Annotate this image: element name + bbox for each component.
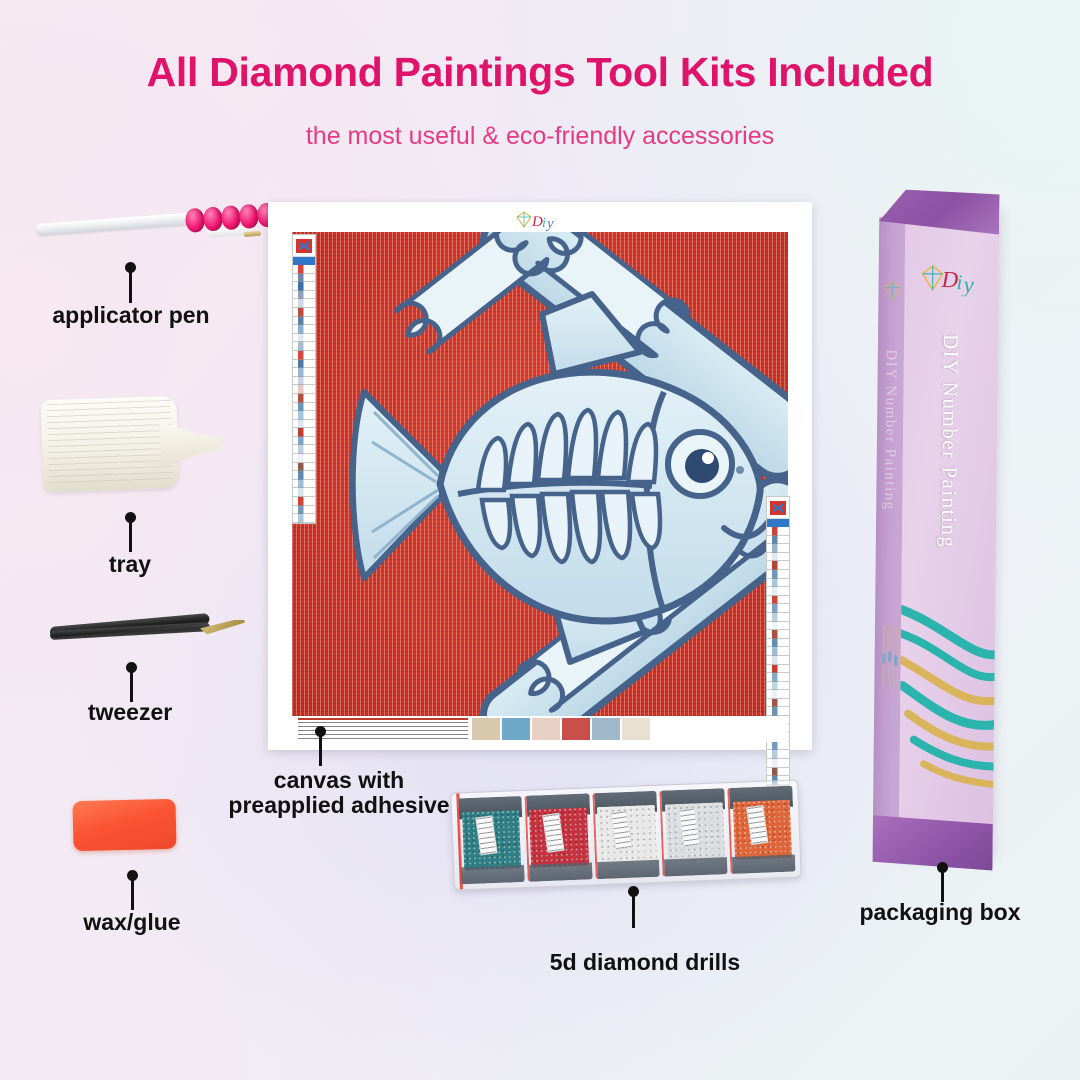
legend-swatch-row	[293, 394, 315, 403]
drill-bag-shadow-bottom	[664, 857, 727, 877]
legend-swatch-row	[293, 454, 315, 463]
drill-bag-shadow-bottom	[732, 854, 795, 874]
legend-swatch-row	[767, 768, 789, 777]
legend-swatch-row	[767, 587, 789, 596]
instruction-thumbnails	[472, 718, 650, 740]
legend-swatch-row	[293, 377, 315, 386]
legend-swatch-row	[767, 561, 789, 570]
legend-swatch-row	[293, 411, 315, 420]
legend-swatch-row	[293, 385, 315, 394]
legend-swatch-row	[293, 334, 315, 343]
legend-swatch-row	[293, 342, 315, 351]
paint-brushes-icon	[879, 613, 900, 703]
legend-swatch-row	[293, 282, 315, 291]
canvas-artwork	[292, 232, 788, 724]
drill-zip-bag	[727, 786, 795, 874]
label-applicator-pen: applicator pen	[0, 303, 262, 328]
callout-stem	[131, 878, 134, 910]
instruction-thumbnail	[562, 718, 590, 740]
legend-swatch-row	[293, 291, 315, 300]
applicator-pen-image	[30, 210, 262, 250]
instruction-thumbnail	[472, 718, 500, 740]
legend-swatch-row	[767, 596, 789, 605]
legend-swatch-row	[767, 707, 789, 716]
diy-logo-icon	[880, 277, 904, 307]
callout-stem	[941, 870, 944, 902]
drill-outer-bag	[450, 779, 802, 890]
diy-logo-icon: D i y	[918, 262, 984, 297]
legend-swatch-row	[767, 665, 789, 674]
legend-swatch-row	[767, 604, 789, 613]
drill-zip-bag	[456, 796, 524, 884]
legend-swatch-row	[767, 613, 789, 622]
box-front-text: DIY Number Painting	[936, 334, 963, 549]
legend-swatch-row	[293, 428, 315, 437]
x-logo-icon	[293, 235, 315, 257]
ribbon-decoration	[899, 588, 995, 799]
legend-swatch-row	[293, 403, 315, 412]
legend-swatch-row	[293, 480, 315, 489]
pen-grip-rings	[35, 203, 270, 244]
legend-swatch-row	[767, 759, 789, 768]
legend-swatch-rows-left	[293, 265, 315, 523]
legend-swatch-row	[293, 506, 315, 515]
instruction-thumbnail	[532, 718, 560, 740]
legend-swatch-row	[293, 420, 315, 429]
legend-swatch-rows-right	[767, 527, 789, 785]
instruction-thumbnail	[622, 718, 650, 740]
tray-body	[40, 396, 179, 493]
drill-zip-bag	[592, 791, 660, 879]
infographic-canvas: All Diamond Paintings Tool Kits Included…	[0, 0, 1080, 1080]
legend-header-bar	[767, 519, 789, 527]
instruction-thumbnail	[592, 718, 620, 740]
legend-swatch-row	[767, 536, 789, 545]
wax-glue-image	[72, 799, 176, 852]
instruction-strip	[292, 716, 788, 742]
legend-swatch-row	[767, 544, 789, 553]
color-legend-right	[766, 496, 790, 786]
color-legend-left	[292, 234, 316, 524]
legend-swatch-row	[767, 750, 789, 759]
x-logo-icon	[767, 497, 789, 519]
legend-swatch-row	[293, 325, 315, 334]
svg-text:i: i	[542, 216, 546, 231]
svg-text:y: y	[961, 272, 974, 296]
diy-logo-icon: D i y	[513, 209, 567, 233]
callout-stem	[632, 894, 635, 928]
tray-spout	[159, 419, 223, 469]
drill-bag-shadow-bottom	[529, 862, 592, 882]
legend-swatch-row	[767, 622, 789, 631]
page-title: All Diamond Paintings Tool Kits Included	[0, 52, 1080, 93]
box-front-panel: D i y DIY Number Painting	[899, 206, 1000, 855]
legend-swatch-row	[293, 463, 315, 472]
legend-swatch-row	[293, 514, 315, 523]
label-packaging-box: packaging box	[818, 900, 1062, 925]
legend-swatch-row	[767, 639, 789, 648]
x-ray-fish-artwork	[292, 232, 788, 724]
legend-swatch-row	[293, 488, 315, 497]
label-wax-glue: wax/glue	[12, 910, 252, 935]
legend-swatch-row	[293, 360, 315, 369]
box-side-text: DIY Number Painting	[880, 349, 899, 510]
canvas-product-image: D i y	[268, 202, 812, 750]
callout-stem	[129, 270, 132, 303]
label-tweezer: tweezer	[10, 700, 250, 725]
label-tray: tray	[20, 552, 240, 577]
legend-swatch-row	[767, 647, 789, 656]
pen-metal-tip	[244, 230, 261, 236]
legend-header-bar	[293, 257, 315, 265]
legend-swatch-row	[767, 553, 789, 562]
legend-swatch-row	[293, 274, 315, 283]
callout-stem	[130, 670, 133, 702]
legend-swatch-row	[293, 265, 315, 274]
label-diamond-drills: 5d diamond drills	[500, 950, 790, 975]
packaging-box-image: DIY Number Painting D i y DIY Number Pai…	[872, 189, 1015, 870]
tray-image	[42, 392, 232, 497]
legend-swatch-row	[767, 570, 789, 579]
legend-swatch-row	[293, 351, 315, 360]
svg-text:i: i	[956, 270, 962, 294]
drill-zip-bag	[524, 793, 592, 881]
box-bottom-cap	[872, 815, 993, 870]
legend-swatch-row	[293, 445, 315, 454]
legend-swatch-row	[767, 630, 789, 639]
legend-swatch-row	[767, 527, 789, 536]
legend-swatch-row	[293, 299, 315, 308]
legend-swatch-row	[293, 317, 315, 326]
legend-swatch-row	[767, 656, 789, 665]
callout-stem	[319, 734, 322, 766]
drill-bag-shadow-bottom	[597, 860, 660, 880]
legend-swatch-row	[767, 690, 789, 699]
legend-swatch-row	[293, 368, 315, 377]
callout-stem	[129, 520, 132, 552]
instruction-thumbnail	[502, 718, 530, 740]
legend-swatch-row	[767, 699, 789, 708]
tweezer-image	[50, 615, 245, 649]
page-subtitle: the most useful & eco-friendly accessori…	[0, 124, 1080, 149]
legend-swatch-row	[293, 308, 315, 317]
drill-zip-bag	[660, 788, 728, 876]
legend-swatch-row	[293, 437, 315, 446]
fish-tail	[353, 392, 442, 578]
diamond-drills-image	[450, 779, 802, 890]
label-canvas: canvas with preapplied adhesive	[225, 768, 453, 818]
legend-swatch-row	[767, 742, 789, 751]
svg-text:y: y	[545, 216, 554, 232]
legend-swatch-row	[293, 497, 315, 506]
legend-swatch-row	[767, 673, 789, 682]
drill-bag-shadow-bottom	[461, 865, 524, 885]
legend-swatch-row	[767, 682, 789, 691]
legend-swatch-row	[293, 471, 315, 480]
legend-swatch-row	[767, 579, 789, 588]
